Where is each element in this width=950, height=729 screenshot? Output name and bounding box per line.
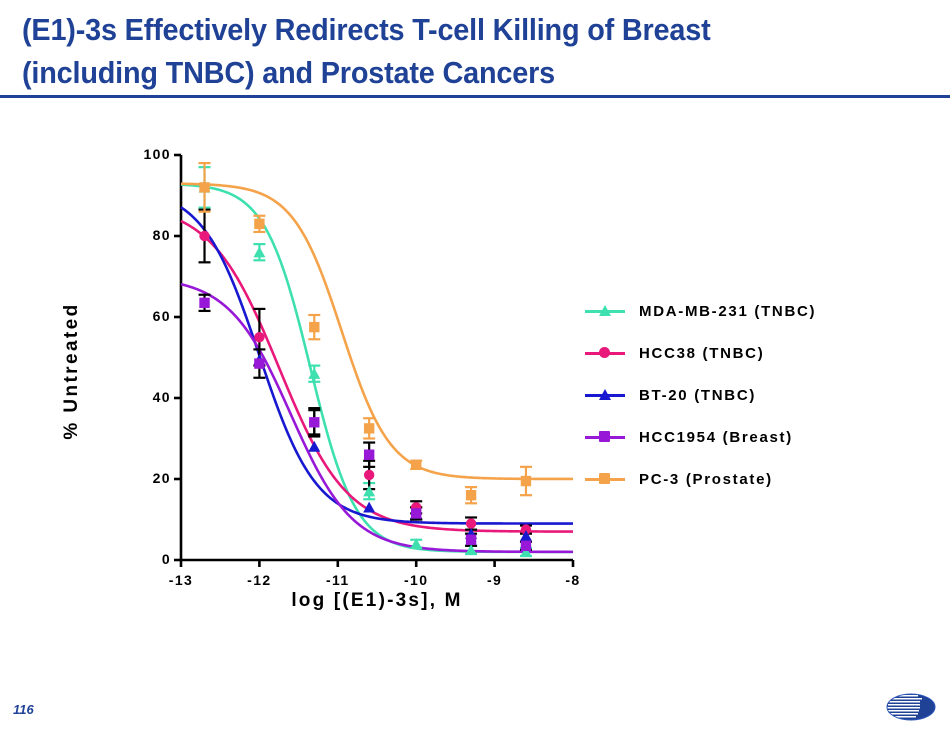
legend-item: MDA-MB-231 (TNBC) xyxy=(585,290,925,332)
y-tick-label: 100 xyxy=(121,146,171,162)
data-point xyxy=(199,182,209,192)
data-point xyxy=(309,322,319,332)
data-point xyxy=(364,423,374,433)
series-curve xyxy=(181,185,573,552)
data-point xyxy=(363,485,375,496)
series-curve xyxy=(181,184,573,479)
legend-marker-icon xyxy=(585,385,625,405)
legend-item: HCC38 (TNBC) xyxy=(585,332,925,374)
data-point xyxy=(254,219,264,229)
data-point xyxy=(364,470,374,480)
page-title: (E1)-3s Effectively Redirects T-cell Kil… xyxy=(22,8,859,94)
data-point xyxy=(411,508,421,518)
y-axis-label: % Untreated xyxy=(61,261,83,481)
data-point xyxy=(199,298,209,308)
legend-label: BT-20 (TNBC) xyxy=(639,387,756,404)
error-bars xyxy=(199,163,532,556)
series-curve xyxy=(181,207,573,523)
legend-item: HCC1954 (Breast) xyxy=(585,416,925,458)
data-point xyxy=(466,490,476,500)
data-point xyxy=(466,518,476,528)
dose-response-chart: % Untreated log [(E1)-3s], M 02040608010… xyxy=(0,110,950,650)
data-point xyxy=(254,358,264,368)
chart-legend: MDA-MB-231 (TNBC)HCC38 (TNBC)BT-20 (TNBC… xyxy=(585,290,925,500)
data-point xyxy=(308,441,320,452)
x-tick-label: -11 xyxy=(308,572,368,588)
data-point xyxy=(199,231,209,241)
title-divider xyxy=(0,95,950,98)
data-point xyxy=(521,476,531,486)
series-curve xyxy=(181,284,573,552)
legend-marker-icon xyxy=(585,469,625,489)
y-tick-label: 40 xyxy=(121,389,171,405)
legend-label: MDA-MB-231 (TNBC) xyxy=(639,303,816,320)
series-curves xyxy=(181,184,573,552)
data-point xyxy=(364,450,374,460)
data-point xyxy=(411,460,421,470)
data-point xyxy=(309,417,319,427)
x-tick-label: -12 xyxy=(229,572,289,588)
y-tick-label: 80 xyxy=(121,227,171,243)
series-markers xyxy=(199,182,532,557)
slide-page-number: 116 xyxy=(13,702,34,717)
legend-marker-icon xyxy=(585,343,625,363)
x-tick-label: -13 xyxy=(151,572,211,588)
y-tick-label: 0 xyxy=(121,551,171,567)
x-axis-label: log [(E1)-3s], M xyxy=(181,590,573,612)
data-point xyxy=(521,541,531,551)
legend-marker-icon xyxy=(585,427,625,447)
company-ellipse-logo xyxy=(884,692,938,722)
data-point xyxy=(466,535,476,545)
data-point xyxy=(253,247,265,258)
legend-marker-icon xyxy=(585,301,625,321)
axis-lines xyxy=(174,155,573,567)
x-tick-label: -9 xyxy=(465,572,525,588)
legend-item: PC-3 (Prostate) xyxy=(585,458,925,500)
series-curve xyxy=(181,221,573,532)
legend-item: BT-20 (TNBC) xyxy=(585,374,925,416)
data-point xyxy=(254,332,264,342)
legend-label: HCC1954 (Breast) xyxy=(639,429,793,446)
legend-label: PC-3 (Prostate) xyxy=(639,471,773,488)
y-tick-label: 60 xyxy=(121,308,171,324)
y-tick-label: 20 xyxy=(121,470,171,486)
x-tick-label: -8 xyxy=(543,572,603,588)
legend-label: HCC38 (TNBC) xyxy=(639,345,764,362)
x-tick-label: -10 xyxy=(386,572,446,588)
